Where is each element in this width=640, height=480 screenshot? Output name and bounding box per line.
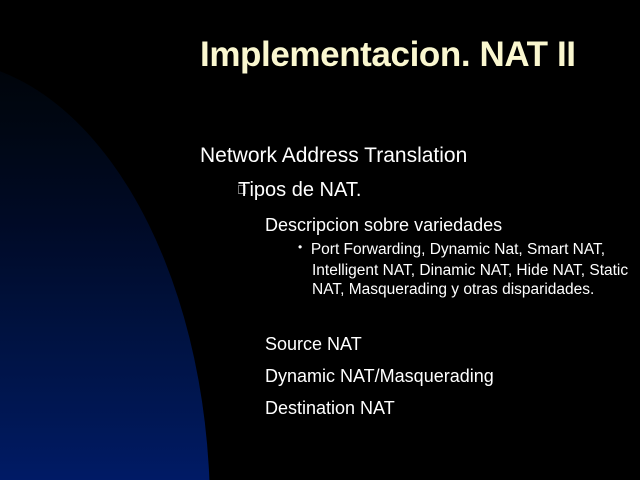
outline-level3-descripcion-sobre-variedades: Descripcion sobre variedades xyxy=(265,214,502,236)
outline-level3-destination-nat: Destination NAT xyxy=(265,397,395,419)
slide-body-outline: Network Address Translation ⎕Tipos de NA… xyxy=(0,0,640,480)
outline-level3-source-nat: Source NAT xyxy=(265,333,362,355)
outline-level4-nat-varieties: • Port Forwarding, Dynamic Nat, Smart NA… xyxy=(298,240,632,300)
outline-level2-label: Tipos de NAT. xyxy=(238,179,361,201)
presentation-slide: Implementacion. NAT II Network Address T… xyxy=(0,0,640,480)
outline-level2-tipos-de-nat: ⎕Tipos de NAT. xyxy=(238,178,361,204)
outline-level1-network-address-translation: Network Address Translation xyxy=(200,143,467,168)
outline-level4-label: Port Forwarding, Dynamic Nat, Smart NAT,… xyxy=(311,241,628,298)
outline-level3-dynamic-nat-masquerading: Dynamic NAT/Masquerading xyxy=(265,365,494,387)
dot-bullet-icon: • xyxy=(298,240,302,254)
